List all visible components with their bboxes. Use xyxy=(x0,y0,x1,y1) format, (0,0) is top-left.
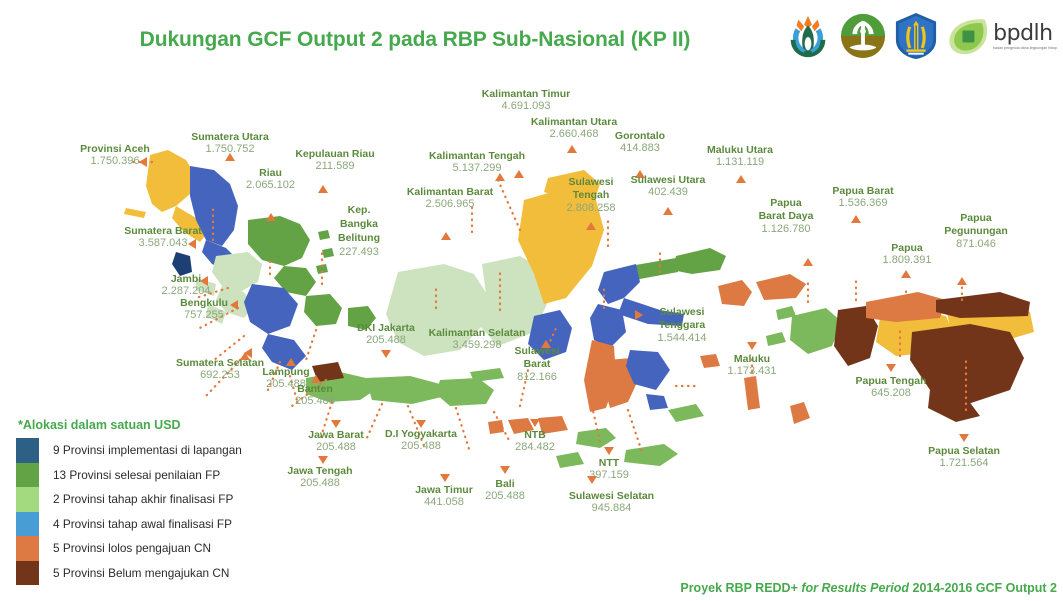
label-sulawesi-barat: SulawesiBarat 812.166 xyxy=(492,345,582,384)
label-ntb: NTB 284.482 xyxy=(504,429,566,454)
page-title: Dukungan GCF Output 2 pada RBP Sub-Nasio… xyxy=(0,28,830,52)
legend-label-6: 5 Provinsi Belum mengajukan CN xyxy=(53,566,229,580)
label-bangka-belitung: Kep.BangkaBelitung 227.493 xyxy=(326,203,392,259)
leader-arrow-diy xyxy=(416,420,426,428)
label-kalimantan-timur: Kalimantan Timur 4.691.093 xyxy=(464,88,588,113)
legend: *Alokasi dalam satuan USD 9 Provinsi imp… xyxy=(16,418,242,585)
leader-arrow-jateng xyxy=(318,456,328,464)
leader-arrow-jambi xyxy=(200,276,208,286)
infographic-root: Dukungan GCF Output 2 pada RBP Sub-Nasio… xyxy=(0,0,1063,601)
region-malut-b xyxy=(756,274,806,300)
region-maluku xyxy=(744,376,760,410)
leader-arrow-kepri xyxy=(318,185,328,193)
label-jawa-tengah: Jawa Tengah 205.488 xyxy=(270,465,370,490)
label-di-yogyakarta: D.I Yogyakarta 205.488 xyxy=(366,428,476,453)
leader-arrow-sulut xyxy=(663,207,673,215)
leader-arrow-papua-barat xyxy=(851,215,861,223)
region-maluku-utara xyxy=(718,280,752,306)
label-sulawesi-utara: Sulawesi Utara 402.439 xyxy=(620,174,716,199)
region-papua-barat-daya xyxy=(790,308,842,354)
leader-arrow-sumbar xyxy=(188,239,196,249)
leader-arrow-sulteng xyxy=(586,222,596,230)
leader-arrow-ntb xyxy=(530,419,540,427)
bpdlh-logo: bpdlh badan pengelola dana lingkungan hi… xyxy=(945,13,1057,59)
leader-arrow-banten xyxy=(311,375,321,383)
leader-arrow-kalteng xyxy=(495,173,505,181)
leader-arrow-ntt xyxy=(604,447,614,455)
region-sultra-isl xyxy=(646,394,668,410)
region-riau xyxy=(248,216,310,266)
leader-arrow-kaltara xyxy=(567,145,577,153)
label-papua-tengah: Papua Tengah 645.208 xyxy=(836,375,946,400)
legend-label-1: 9 Provinsi implementasi di lapangan xyxy=(53,443,242,457)
region-bali xyxy=(488,420,504,434)
leader-arrow-babel xyxy=(244,348,252,358)
legend-swatch-6 xyxy=(16,561,39,586)
bpdlh-leaf-icon xyxy=(945,13,991,59)
label-sumatera-barat: Sumatera Barat 3.587.043 xyxy=(108,225,218,250)
region-aceh-islet xyxy=(124,208,146,218)
footer-italic: for Results Period xyxy=(801,581,909,595)
label-sulawesi-tengah: SulawesiTengah 2.808.258 xyxy=(548,176,634,215)
legend-item-belum-cn: 5 Provinsi Belum mengajukan CN xyxy=(16,561,242,586)
leader-arrow-dki xyxy=(381,350,391,358)
legend-swatch-5 xyxy=(16,536,39,561)
leader-arrow-bali xyxy=(500,466,510,474)
tree-logo xyxy=(839,12,887,60)
leader-arrow-kalbar xyxy=(441,232,451,240)
legend-note: *Alokasi dalam satuan USD xyxy=(16,418,242,432)
bpdlh-wordmark: bpdlh xyxy=(993,23,1057,45)
label-jambi: Jambi 2.287.204 xyxy=(140,273,232,298)
label-bali: Bali 205.488 xyxy=(474,478,536,503)
region-sulawesi-utara xyxy=(672,248,726,274)
region-bangka xyxy=(304,294,342,326)
legend-label-5: 5 Provinsi lolos pengajuan CN xyxy=(53,541,211,555)
legend-label-3: 2 Provinsi tahap akhir finalisasi FP xyxy=(53,492,233,506)
region-pbd-isl2 xyxy=(766,332,786,346)
label-maluku: Maluku 1.173.431 xyxy=(708,353,796,378)
bpdlh-subtext: badan pengelola dana lingkungan hidup xyxy=(993,46,1057,50)
region-ntt xyxy=(576,428,616,448)
leader-arrow-bengkulu xyxy=(230,300,238,310)
label-provinsi-aceh: Provinsi Aceh 1.750.396 xyxy=(60,143,170,168)
region-ntt-d xyxy=(668,404,704,422)
region-sulawesi-tengah xyxy=(598,264,640,304)
leader-arrow-jabar xyxy=(331,420,341,428)
legend-item-lolos-cn: 5 Provinsi lolos pengajuan CN xyxy=(16,536,242,561)
region-papua-selatan-b xyxy=(936,292,1030,318)
leader-arrow-papua xyxy=(901,270,911,278)
leader-arrow-sumut xyxy=(225,153,235,161)
label-sulawesi-tenggara: SulawesiTenggara 1.544.414 xyxy=(642,306,722,345)
legend-item-selesai-penilaian: 13 Provinsi selesai penilaian FP xyxy=(16,463,242,488)
leader-arrow-kaltim xyxy=(514,170,524,178)
label-papua-barat: Papua Barat 1.536.369 xyxy=(808,185,918,210)
legend-item-tahap-awal: 4 Provinsi tahap awal finalisasi FP xyxy=(16,512,242,537)
label-kalimantan-barat: Kalimantan Barat 2.506.965 xyxy=(388,186,512,211)
legend-label-2: 13 Provinsi selesai penilaian FP xyxy=(53,468,220,482)
leader-arrow-maluku xyxy=(747,342,757,350)
label-kepulauan-riau: Kepulauan Riau 211.589 xyxy=(280,148,390,173)
footer-caption: Proyek RBP REDD+ for Results Period 2014… xyxy=(680,581,1057,595)
leader-arrow-sulbar xyxy=(594,344,604,352)
label-banten: Banten 205.488 xyxy=(276,383,354,408)
label-sulawesi-selatan: Sulawesi Selatan 945.884 xyxy=(549,490,674,515)
leader-arrow-sulsel xyxy=(587,476,597,484)
legend-label-4: 4 Provinsi tahap awal finalisasi FP xyxy=(53,517,232,531)
footer-suffix: 2014-2016 GCF Output 2 xyxy=(909,581,1057,595)
leader-arrow-lampung xyxy=(286,358,296,366)
leader-arrow-malut xyxy=(736,175,746,183)
klhk-logo xyxy=(784,12,832,60)
legend-item-implementasi: 9 Provinsi implementasi di lapangan xyxy=(16,438,242,463)
leader-arrow-papua-selatan xyxy=(959,434,969,442)
legend-swatch-1 xyxy=(16,438,39,463)
region-java-central xyxy=(366,376,446,404)
legend-swatch-2 xyxy=(16,463,39,488)
leader-arrow-aceh xyxy=(139,157,147,167)
legend-swatch-4 xyxy=(16,512,39,537)
leader-arrow-pbd xyxy=(803,258,813,266)
kemenkeu-logo xyxy=(894,12,938,60)
leader-arrow-riau xyxy=(266,213,276,221)
label-papua-selatan: Papua Selatan 1.721.564 xyxy=(908,445,1020,470)
leader-arrow-papua-tengah xyxy=(886,364,896,372)
region-java-east xyxy=(436,378,494,406)
region-maluku-b xyxy=(790,402,810,424)
logo-strip: bpdlh badan pengelola dana lingkungan hi… xyxy=(784,12,1057,60)
leader-arrow-papua-peg xyxy=(957,277,967,285)
leader-arrow-sultra xyxy=(635,310,643,320)
label-maluku-utara: Maluku Utara 1.131.119 xyxy=(690,144,790,169)
legend-item-tahap-akhir: 2 Provinsi tahap akhir finalisasi FP xyxy=(16,487,242,512)
label-gorontalo: Gorontalo 414.883 xyxy=(594,130,686,155)
leader-arrow-jatim xyxy=(440,474,450,482)
legend-swatch-3 xyxy=(16,487,39,512)
footer-prefix: Proyek RBP REDD+ xyxy=(680,581,801,595)
label-papua-pegunungan: PapuaPegunungan 871.046 xyxy=(922,212,1030,251)
